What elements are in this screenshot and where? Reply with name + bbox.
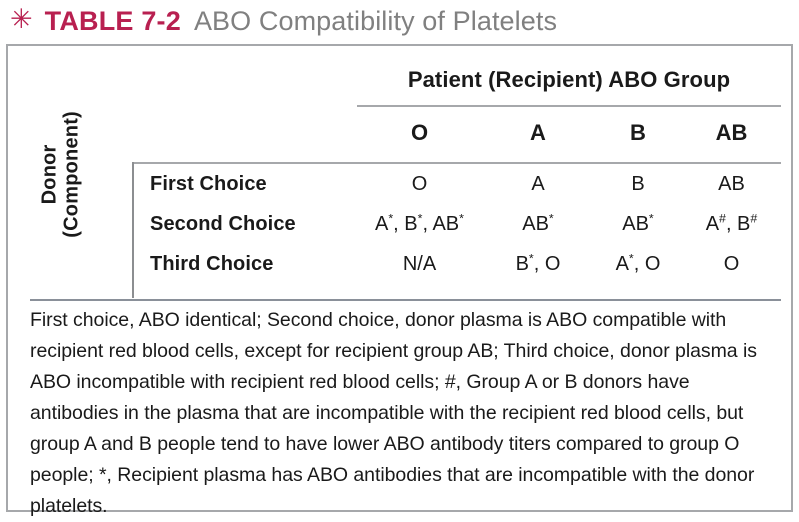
column-group-header: Patient (Recipient) ABO Group	[357, 67, 781, 93]
row-label-third-choice: Third Choice	[132, 253, 357, 276]
cell-first-choice-a: A	[482, 173, 594, 196]
cell-first-choice-b: B	[594, 173, 682, 196]
donor-axis-line-2: (Component)	[61, 94, 83, 254]
table-body: First Choice O A B AB Second Choice A*, …	[132, 164, 781, 284]
cell-second-choice-ab: A#, B#	[682, 213, 781, 236]
column-header-b: B	[594, 115, 682, 155]
table-footnote: First choice, ABO identical; Second choi…	[30, 305, 782, 522]
table-number-label: TABLE 7-2	[45, 6, 181, 37]
cell-second-choice-a: AB*	[482, 213, 594, 236]
cell-second-choice-o: A*, B*, AB*	[357, 213, 482, 236]
table-grid-area: Donor (Component) Patient (Recipient) AB…	[9, 47, 792, 299]
footnote-separator-rule	[30, 299, 781, 301]
table-row: First Choice O A B AB	[132, 164, 781, 204]
table-row: Second Choice A*, B*, AB* AB* AB* A#, B#	[132, 204, 781, 244]
table-frame-inner: Donor (Component) Patient (Recipient) AB…	[8, 46, 791, 510]
cell-third-choice-o: N/A	[357, 253, 482, 276]
column-header-ab: AB	[682, 115, 781, 155]
asterisk-star-icon: ✳	[10, 6, 33, 33]
donor-axis-line-1: Donor	[39, 94, 61, 254]
row-label-second-choice: Second Choice	[132, 213, 357, 236]
cell-third-choice-b: A*, O	[594, 253, 682, 276]
cell-third-choice-a: B*, O	[482, 253, 594, 276]
cell-first-choice-ab: AB	[682, 173, 781, 196]
cell-third-choice-ab: O	[682, 253, 781, 276]
table-row: Third Choice N/A B*, O A*, O O	[132, 244, 781, 284]
row-label-first-choice: First Choice	[132, 173, 357, 196]
column-group-header-rule	[357, 105, 781, 107]
table-title-bar: ✳ TABLE 7-2 ABO Compatibility of Platele…	[0, 0, 799, 42]
column-header-o: O	[357, 115, 482, 155]
table-caption-label: ABO Compatibility of Platelets	[194, 6, 557, 37]
column-headers-row: O A B AB	[357, 115, 781, 155]
cell-second-choice-b: AB*	[594, 213, 682, 236]
cell-first-choice-o: O	[357, 173, 482, 196]
column-header-a: A	[482, 115, 594, 155]
table-frame: Donor (Component) Patient (Recipient) AB…	[6, 44, 793, 512]
donor-component-axis-label: Donor (Component)	[39, 94, 84, 254]
